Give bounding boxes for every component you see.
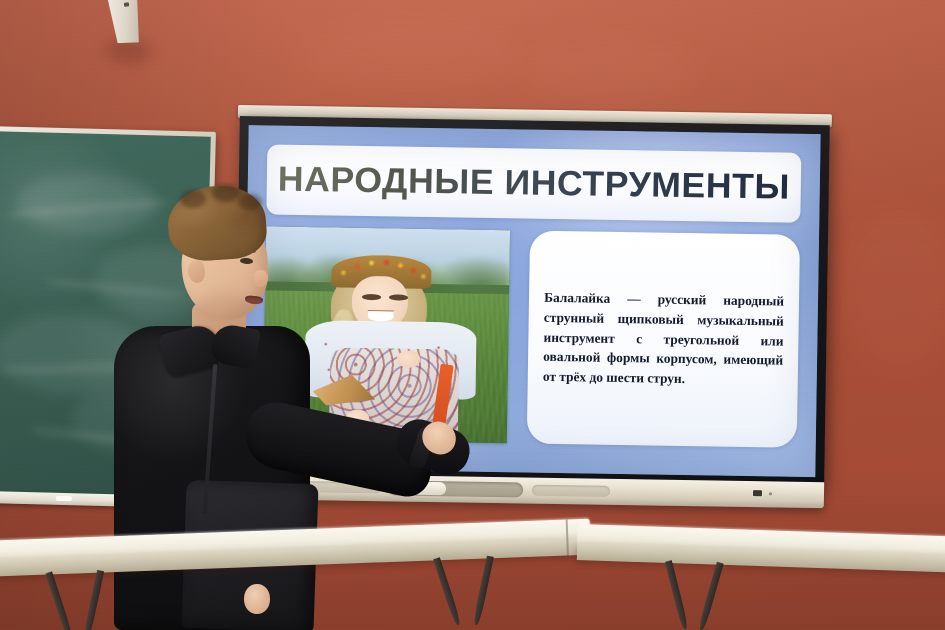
slide-photo bbox=[263, 227, 509, 443]
photo-figure bbox=[283, 246, 495, 443]
presentation-slide[interactable]: НАРОДНЫЕ ИНСТРУМЕНТЫ bbox=[243, 125, 820, 477]
classroom-scene: НАРОДНЫЕ ИНСТРУМЕНТЫ bbox=[0, 0, 945, 630]
display-ports[interactable] bbox=[250, 482, 277, 487]
motion-sensor-icon bbox=[105, 0, 142, 46]
figure-hand bbox=[397, 350, 420, 368]
sensor-body bbox=[105, 0, 142, 46]
figure-hand bbox=[346, 410, 369, 428]
display-speaker-right bbox=[532, 485, 610, 497]
display-control-bar[interactable] bbox=[388, 480, 523, 497]
display-speaker-left bbox=[294, 481, 382, 493]
display-bezel: НАРОДНЫЕ ИНСТРУМЕНТЫ bbox=[234, 116, 830, 484]
display-power-knob[interactable] bbox=[413, 482, 446, 496]
interactive-display[interactable]: НАРОДНЫЕ ИНСТРУМЕНТЫ bbox=[234, 107, 830, 516]
figure-eye bbox=[362, 294, 381, 300]
chalkboard bbox=[0, 126, 216, 504]
slide-title-box: НАРОДНЫЕ ИНСТРУМЕНТЫ bbox=[267, 144, 801, 223]
figure-smile bbox=[368, 311, 393, 321]
display-screen[interactable]: НАРОДНЫЕ ИНСТРУМЕНТЫ bbox=[243, 125, 820, 477]
chalkboard-surface bbox=[0, 131, 211, 499]
sensor-lens bbox=[123, 2, 128, 7]
slide-title: НАРОДНЫЕ ИНСТРУМЕНТЫ bbox=[277, 160, 790, 208]
ir-receiver-icon bbox=[753, 490, 762, 496]
figure-eye bbox=[389, 294, 408, 300]
status-led bbox=[769, 492, 772, 495]
slide-text-card: Балалайка — русский народный струнный щи… bbox=[527, 231, 800, 448]
chalk-piece bbox=[56, 496, 72, 501]
slide-body-text: Балалайка — русский народный струнный щи… bbox=[543, 288, 784, 391]
